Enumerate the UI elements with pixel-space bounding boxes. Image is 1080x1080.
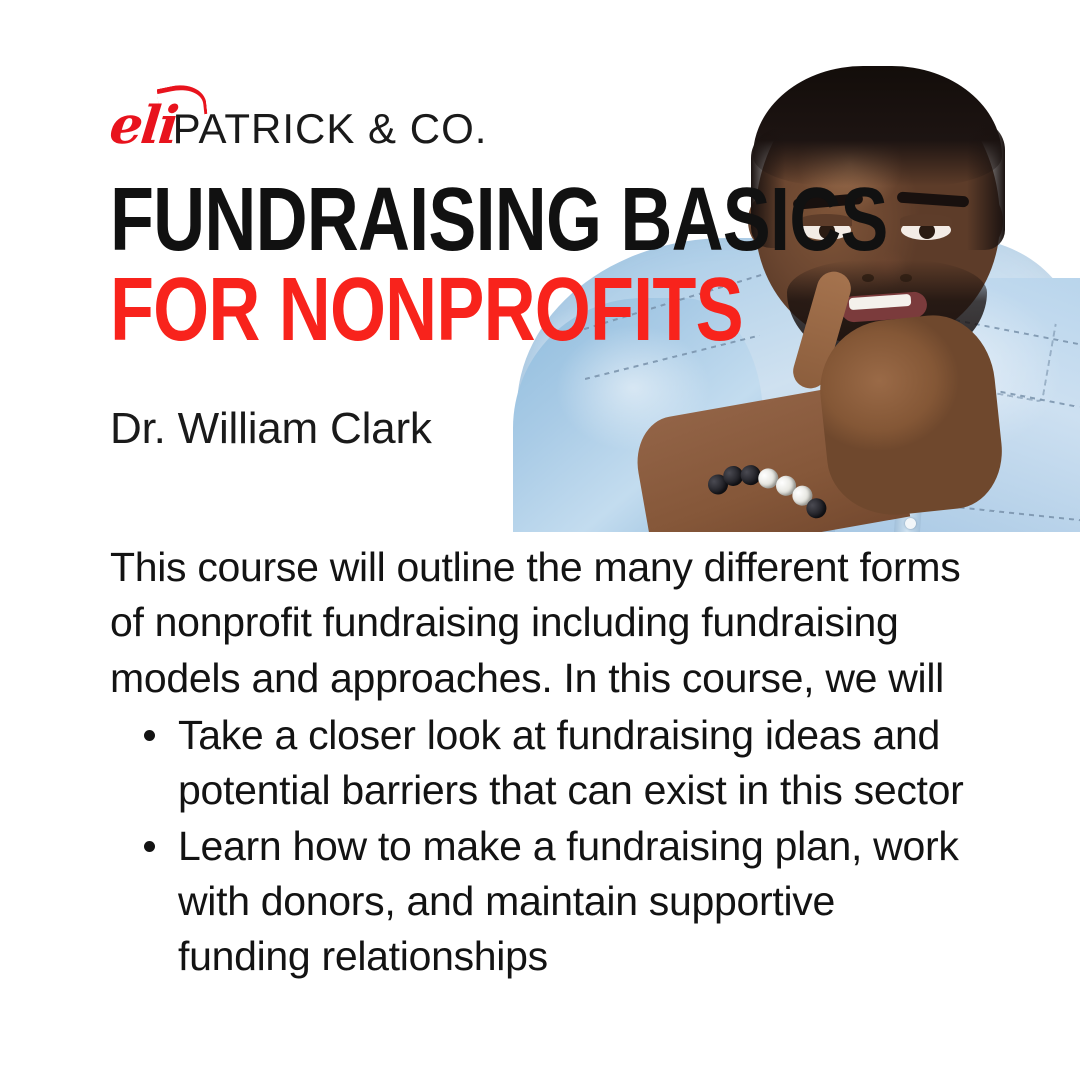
- shirt-button: [905, 518, 916, 529]
- page-title-line-1: FUNDRAISING BASICS: [110, 182, 888, 259]
- hair: [753, 66, 1002, 186]
- hand-on-chin: [813, 309, 1007, 521]
- brand-logo[interactable]: eli PATRICK & CO.: [110, 100, 487, 152]
- list-item: Learn how to make a fundraising plan, wo…: [138, 819, 970, 985]
- course-highlights-list: Take a closer look at fundraising ideas …: [110, 708, 970, 985]
- course-intro-paragraph: This course will outline the many differ…: [110, 540, 970, 706]
- logo-script-mark: eli: [107, 100, 179, 152]
- presenter-name: Dr. William Clark: [110, 405, 432, 453]
- hair-side-right: [967, 120, 1005, 250]
- course-promo-card: eli PATRICK & CO. FUNDRAISING BASICS FOR…: [0, 0, 1080, 1080]
- page-title-line-2: FOR NONPROFITS: [110, 272, 743, 349]
- course-description: This course will outline the many differ…: [110, 540, 970, 985]
- eyelid-right: [900, 214, 952, 226]
- list-item: Take a closer look at fundraising ideas …: [138, 708, 970, 819]
- logo-wordmark: PATRICK & CO.: [173, 108, 488, 150]
